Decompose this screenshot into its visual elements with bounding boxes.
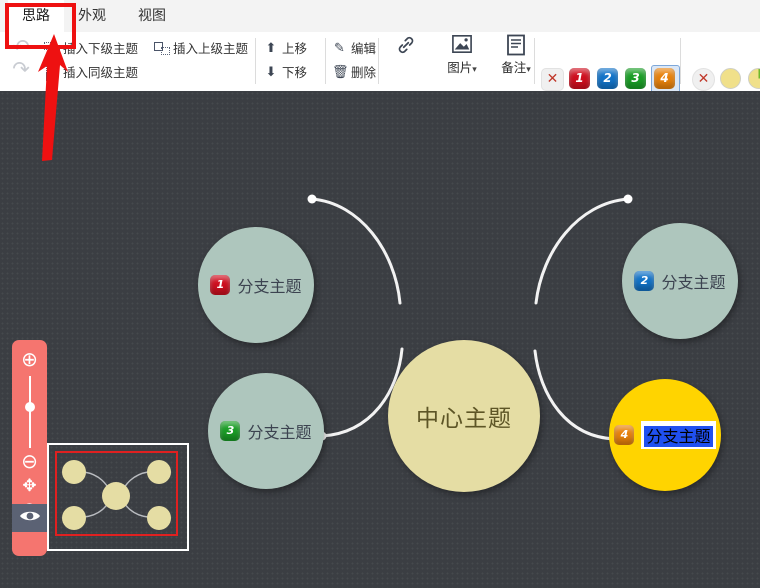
picture-icon bbox=[438, 34, 486, 60]
zoom-in-button[interactable]: ⊕ bbox=[12, 348, 47, 370]
view-toolbar: ⊕ ⊖ ✥ ◎ bbox=[12, 340, 47, 556]
note-dropdown-caret[interactable]: ▾ bbox=[526, 65, 531, 75]
zoom-slider-track[interactable] bbox=[29, 376, 31, 448]
branch-4-selected-text[interactable]: 分支主题 bbox=[644, 426, 712, 447]
branch-node-2[interactable]: 2 分支主题 bbox=[622, 223, 738, 339]
branch-4-text-editor[interactable]: 分支主题 bbox=[641, 421, 715, 449]
image-label: 图片 bbox=[447, 60, 472, 75]
move-down-button[interactable]: ⬇ 下移 bbox=[264, 62, 307, 84]
insert-parent-icon bbox=[154, 42, 169, 56]
arrow-up-icon: ⬆ bbox=[264, 38, 278, 60]
insert-parent-label: 插入上级主题 bbox=[173, 38, 248, 60]
progress-25-icon[interactable] bbox=[748, 68, 760, 89]
image-button[interactable]: 图片▾ bbox=[438, 34, 486, 78]
badge-3-button[interactable]: 3 bbox=[625, 68, 646, 89]
eye-icon bbox=[12, 504, 47, 532]
note-label: 备注 bbox=[501, 60, 526, 75]
tab-bar: 思路 外观 视图 bbox=[0, 0, 760, 33]
minimap-node-2 bbox=[147, 460, 171, 484]
center-node-label: 中心主题 bbox=[416, 399, 512, 433]
annotation-arrow-icon bbox=[30, 30, 80, 170]
branch-node-4[interactable]: 4 分支主题 bbox=[609, 379, 721, 491]
edit-label: 编辑 bbox=[351, 38, 376, 60]
toolbar-row: ↶ ↷ 插入下级主题 插入同级主题 插入上级主题 ⬆ 上移 ⬇ bbox=[0, 32, 760, 90]
move-up-label: 上移 bbox=[282, 38, 307, 60]
image-dropdown-caret[interactable]: ▾ bbox=[472, 65, 477, 75]
note-icon bbox=[492, 34, 540, 60]
ribbon: 思路 外观 视图 ↶ ↷ 插入下级主题 插入同级主题 插入上级主题 ⬆ bbox=[0, 0, 760, 91]
progress-clear-button[interactable]: ✕ bbox=[692, 68, 715, 91]
badge-4-button[interactable]: 4 bbox=[654, 68, 675, 89]
link-icon bbox=[384, 34, 428, 60]
zoom-out-button[interactable]: ⊖ bbox=[12, 450, 47, 472]
note-button[interactable]: 备注▾ bbox=[492, 34, 540, 78]
arrow-down-icon: ⬇ bbox=[264, 62, 278, 84]
branch-node-3[interactable]: 3 分支主题 bbox=[208, 373, 324, 489]
mindmap-canvas[interactable]: 中心主题 1 分支主题 2 分支主题 3 分支主题 bbox=[0, 91, 760, 588]
branch-3-label: 分支主题 bbox=[247, 419, 311, 443]
minimap-node-3 bbox=[62, 506, 86, 530]
move-down-label: 下移 bbox=[282, 62, 307, 84]
branch-4-badge[interactable]: 4 bbox=[614, 425, 634, 445]
minimap-node-4 bbox=[147, 506, 171, 530]
edit-button[interactable]: ✎ 编辑 bbox=[332, 38, 376, 60]
branch-node-1[interactable]: 1 分支主题 bbox=[198, 227, 314, 343]
link-button[interactable] bbox=[384, 34, 428, 60]
pan-move-button[interactable]: ✥ bbox=[12, 476, 47, 496]
toggle-minimap-button[interactable] bbox=[12, 504, 47, 532]
minimap[interactable] bbox=[47, 443, 189, 551]
badge-2-button[interactable]: 2 bbox=[597, 68, 618, 89]
branch-2-badge[interactable]: 2 bbox=[634, 271, 654, 291]
branch-1-badge[interactable]: 1 bbox=[210, 275, 230, 295]
move-up-button[interactable]: ⬆ 上移 bbox=[264, 38, 307, 60]
zoom-slider-knob[interactable] bbox=[25, 402, 35, 412]
branch-3-badge[interactable]: 3 bbox=[220, 421, 240, 441]
branch-2-label: 分支主题 bbox=[661, 269, 725, 293]
minimap-node-1 bbox=[62, 460, 86, 484]
pencil-edit-icon: ✎ bbox=[332, 38, 347, 60]
trash-icon: 🗑 bbox=[332, 62, 347, 84]
insert-parent-button[interactable]: 插入上级主题 bbox=[154, 38, 248, 60]
app-window: 思路 外观 视图 ↶ ↷ 插入下级主题 插入同级主题 插入上级主题 ⬆ bbox=[0, 0, 760, 588]
delete-label: 删除 bbox=[351, 62, 376, 84]
tab-shiTu[interactable]: 视图 bbox=[124, 0, 180, 32]
delete-button[interactable]: 🗑 删除 bbox=[332, 62, 376, 84]
badge-clear-button[interactable]: ✕ bbox=[541, 68, 564, 91]
progress-0-icon[interactable] bbox=[720, 68, 741, 89]
center-node[interactable]: 中心主题 bbox=[388, 340, 540, 492]
minimap-center-node bbox=[102, 482, 130, 510]
branch-1-label: 分支主题 bbox=[237, 273, 301, 297]
badge-1-button[interactable]: 1 bbox=[569, 68, 590, 89]
